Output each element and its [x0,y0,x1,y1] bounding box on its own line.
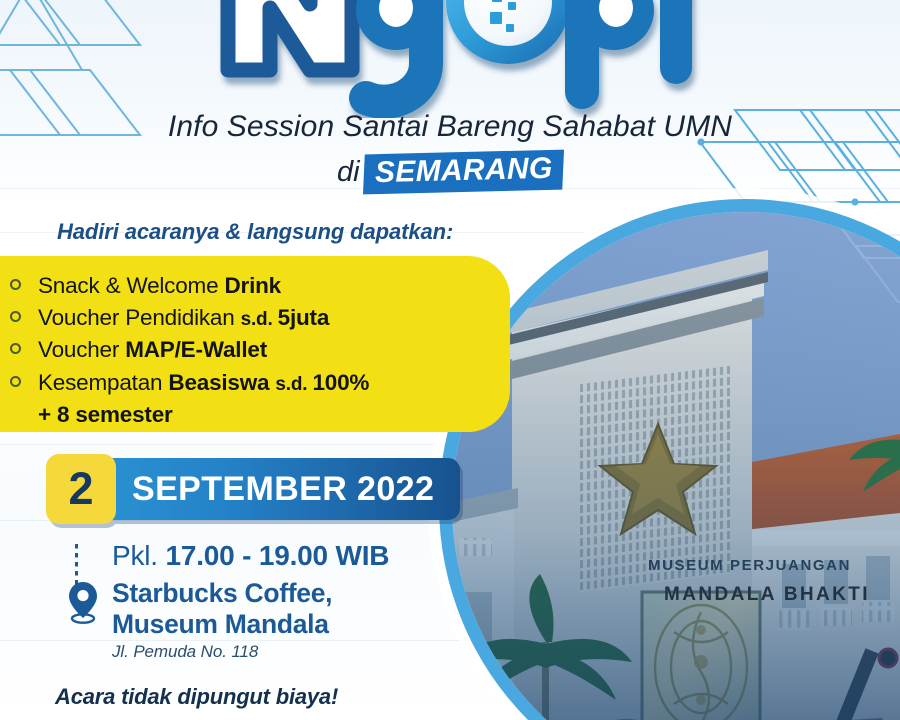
benefit-text-continuation: + 8 semester [38,399,510,431]
benefit-text-bold: 5juta [278,305,330,330]
bullet-icon [10,376,21,387]
city-badge: SEMARANG [363,150,565,195]
event-details: Pkl. 17.00 - 19.00 WIB Starbucks Coffee,… [62,540,462,662]
time-prefix: Pkl. [112,540,165,571]
benefit-item: Kesempatan Beasiswa s.d. 100% + 8 semest… [38,367,510,431]
event-day-badge: 2 [46,454,116,524]
benefit-item: Voucher Pendidikan s.d. 5juta [38,302,510,334]
event-time: Pkl. 17.00 - 19.00 WIB [112,540,462,572]
tagline: Info Session Santai Bareng Sahabat UMN [0,110,900,144]
benefit-text-bold: MAP/E-Wallet [125,337,267,362]
benefit-text-bold: Drink [224,273,281,298]
bullet-icon [10,279,21,290]
benefit-text-plain: Snack & Welcome [38,273,224,298]
benefit-text-bold2: 100% [312,370,369,395]
benefits-list: Snack & Welcome Drink Voucher Pendidikan… [0,270,510,431]
city-prefix: di [337,156,360,188]
benefits-box: Snack & Welcome Drink Voucher Pendidikan… [0,256,510,432]
bullet-icon [10,343,21,354]
benefit-text-small: s.d. [241,309,278,330]
poster-canvas: Info Session Santai Bareng Sahabat UMN d… [0,0,900,720]
event-time-row: Pkl. 17.00 - 19.00 WIB [62,540,462,572]
benefit-item: Voucher MAP/E-Wallet [38,334,510,366]
benefit-text-bold: Beasiswa [168,370,275,395]
benefits-subhead: Hadiri acaranya & langsung dapatkan: [57,219,453,245]
building-sign-line2: MANDALA BHAKTI [664,584,870,605]
benefit-item: Snack & Welcome Drink [38,270,510,302]
benefit-text-plain: Kesempatan [38,370,168,395]
benefit-text-plain: Voucher Pendidikan [38,305,241,330]
logo [0,0,900,118]
free-event-note: Acara tidak dipungut biaya! [55,684,338,710]
bullet-icon [10,311,21,322]
event-date-bar: 2 SEPTEMBER 2022 [46,458,460,524]
venue-line-1: Starbucks Coffee, [112,578,462,609]
museum-mandala-bhakti-photo: MUSEUM PERJUANGAN [452,212,900,720]
benefit-text-small: s.d. [275,374,312,395]
venue-name: Starbucks Coffee, Museum Mandala [112,578,462,639]
venue-line-2: Museum Mandala [112,609,462,640]
map-pin-icon [66,580,100,624]
time-value: 17.00 - 19.00 WIB [165,540,389,571]
venue-address: Jl. Pemuda No. 118 [112,642,462,662]
city-label: SEMARANG [374,152,552,190]
ngopi-logo-icon [190,0,710,118]
city-line: diSEMARANG [0,152,900,192]
benefit-text-plain: Voucher [38,337,125,362]
event-place-row: Starbucks Coffee, Museum Mandala Jl. Pem… [62,578,462,662]
